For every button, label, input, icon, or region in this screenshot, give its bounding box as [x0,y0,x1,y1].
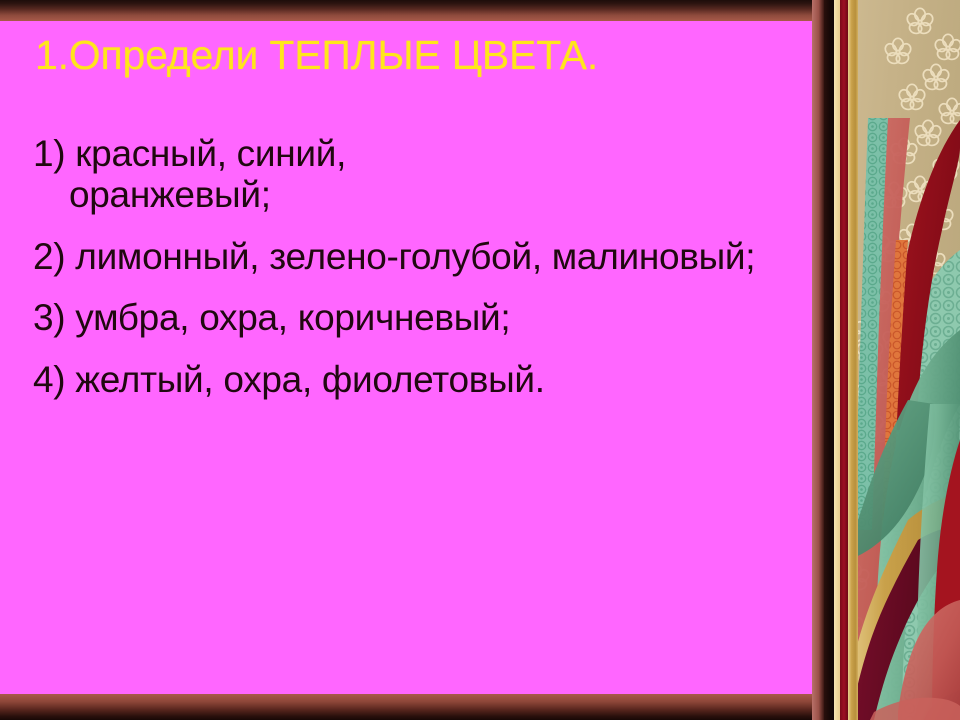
answer-option-4[interactable]: 4) желтый, охра, фиолетовый. [33,359,796,400]
ornamental-side-border [812,0,960,720]
answer-option-1[interactable]: 1) красный, синий, оранжевый; [33,133,503,216]
page-title: 1.Определи ТЕПЛЫЕ ЦВЕТА. [35,34,796,77]
slide-canvas: 1.Определи ТЕПЛЫЕ ЦВЕТА. 1) красный, син… [0,0,960,720]
slide-content: 1.Определи ТЕПЛЫЕ ЦВЕТА. 1) красный, син… [0,0,814,720]
answer-option-2[interactable]: 2) лимонный, зелено-голубой, малиновый; [33,236,796,277]
answer-options-list: 1) красный, синий, оранжевый; 2) лимонны… [33,133,796,400]
bottom-accent-band [0,694,814,720]
answer-option-3[interactable]: 3) умбра, охра, коричневый; [33,297,796,338]
